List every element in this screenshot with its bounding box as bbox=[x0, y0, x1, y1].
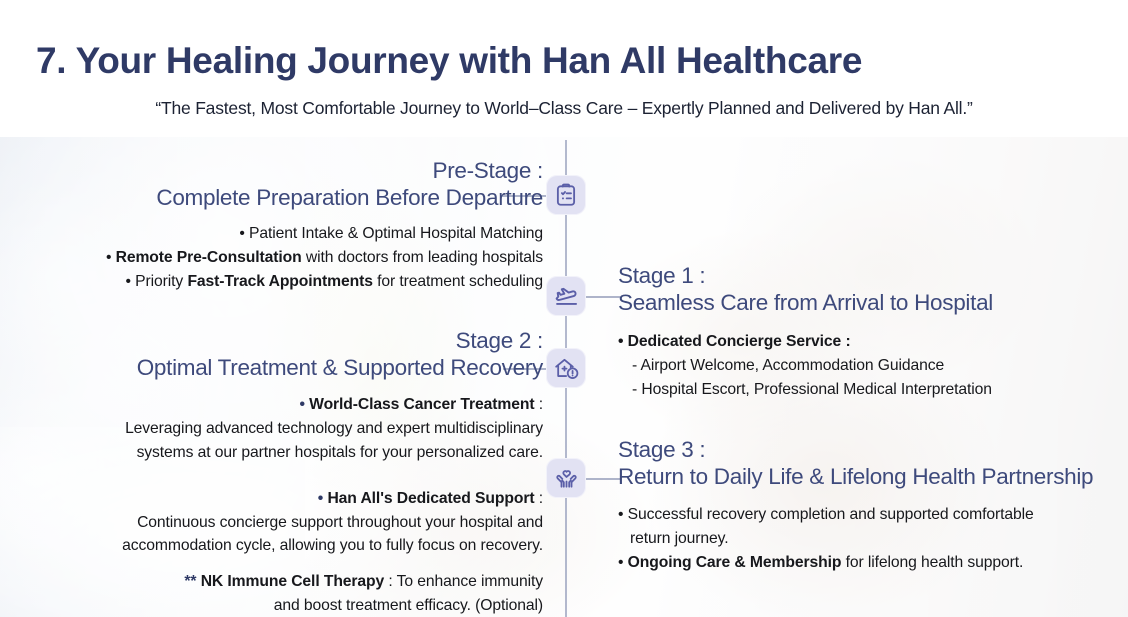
stage2-heading: Stage 2 : Optimal Treatment & Supported … bbox=[0, 328, 543, 381]
bullet-bold: World-Class Cancer Treatment bbox=[309, 396, 534, 413]
connector-stage3 bbox=[586, 478, 620, 480]
stage1-sub-2: - Hospital Escort, Professional Medical … bbox=[618, 378, 1118, 402]
prestage-headline: Complete Preparation Before Departure bbox=[0, 185, 543, 212]
prestage-bullet-3: • Priority Fast-Track Appointments for t… bbox=[0, 270, 543, 294]
stage2-bullet-2: • Han All's Dedicated Support : bbox=[0, 487, 543, 511]
bullet-rest: for lifelong health support. bbox=[841, 554, 1023, 571]
block-prestage: Pre-Stage : Complete Preparation Before … bbox=[0, 158, 543, 294]
bullet-bold: Fast-Track Appointments bbox=[187, 273, 372, 290]
note-bold: NK Immune Cell Therapy bbox=[201, 573, 384, 590]
airplane-landing-icon[interactable] bbox=[546, 276, 586, 316]
bullet-marker: • Priority bbox=[126, 273, 188, 290]
prestage-bullets: • Patient Intake & Optimal Hospital Matc… bbox=[0, 222, 543, 294]
stage2-bullets: • World-Class Cancer Treatment : Leverag… bbox=[0, 393, 543, 558]
stage3-label: Stage 3 : bbox=[618, 437, 1118, 464]
airplane-landing-glyph bbox=[553, 283, 580, 310]
note-text: ** NK Immune Cell Therapy : To enhance i… bbox=[0, 570, 543, 617]
prestage-heading: Pre-Stage : Complete Preparation Before … bbox=[0, 158, 543, 211]
stage3-bullet-1-line-1: • Successful recovery completion and sup… bbox=[618, 503, 1118, 527]
page-title: 7. Your Healing Journey with Han All Hea… bbox=[36, 40, 862, 82]
block-nk-therapy-note: ** NK Immune Cell Therapy : To enhance i… bbox=[0, 570, 543, 617]
bullet-rest: : bbox=[534, 490, 543, 507]
block-stage1: Stage 1 : Seamless Care from Arrival to … bbox=[618, 263, 1118, 402]
bullet-bold: Remote Pre-Consultation bbox=[116, 249, 302, 266]
connector-stage1 bbox=[586, 296, 620, 298]
bullet-rest: with doctors from leading hospitals bbox=[302, 249, 543, 266]
block-stage2: Stage 2 : Optimal Treatment & Supported … bbox=[0, 328, 543, 558]
stage3-headline: Return to Daily Life & Lifelong Health P… bbox=[618, 464, 1118, 491]
prestage-bullet-1: • Patient Intake & Optimal Hospital Matc… bbox=[0, 222, 543, 246]
stage1-sub-1: - Airport Welcome, Accommodation Guidanc… bbox=[618, 354, 1118, 378]
stage1-bullets: • Dedicated Concierge Service : - Airpor… bbox=[618, 330, 1118, 402]
stage2-body-2-line-1: Continuous concierge support throughout … bbox=[0, 511, 543, 535]
stage1-heading: Stage 1 : Seamless Care from Arrival to … bbox=[618, 263, 1118, 316]
stage2-bullet-1: • World-Class Cancer Treatment : bbox=[0, 393, 543, 417]
bullet-bold: Ongoing Care & Membership bbox=[628, 554, 842, 571]
clipboard-checklist-glyph bbox=[553, 182, 579, 208]
slide-root: 7. Your Healing Journey with Han All Hea… bbox=[0, 0, 1128, 617]
bullet-marker: • bbox=[106, 249, 116, 266]
stage2-body-1-line-1: Leveraging advanced technology and exper… bbox=[0, 417, 543, 441]
header-band: 7. Your Healing Journey with Han All Hea… bbox=[0, 0, 1128, 137]
stage2-headline: Optimal Treatment & Supported Recovery bbox=[0, 355, 543, 382]
hospital-info-glyph bbox=[553, 355, 580, 382]
bullet-rest: for treatment scheduling bbox=[373, 273, 543, 290]
hospital-info-icon[interactable] bbox=[546, 348, 586, 388]
spacer bbox=[0, 465, 543, 487]
stage2-body-2-line-2: accommodation cycle, allowing you to ful… bbox=[0, 534, 543, 558]
note-line-2: and boost treatment efficacy. (Optional) bbox=[0, 594, 543, 617]
bullet-marker: • bbox=[618, 554, 628, 571]
stage1-bullet-1: • Dedicated Concierge Service : bbox=[618, 330, 1118, 354]
note-rest: : To enhance immunity bbox=[384, 573, 543, 590]
bullet-marker: • bbox=[318, 490, 328, 507]
hands-holding-heart-icon[interactable] bbox=[546, 458, 586, 498]
page-subtitle: “The Fastest, Most Comfortable Journey t… bbox=[0, 98, 1128, 119]
clipboard-checklist-icon[interactable] bbox=[546, 175, 586, 215]
block-stage3: Stage 3 : Return to Daily Life & Lifelon… bbox=[618, 437, 1118, 575]
stage2-body-1-line-2: systems at our partner hospitals for you… bbox=[0, 441, 543, 465]
stage3-bullet-1-line-2: return journey. bbox=[618, 527, 1118, 551]
stage3-bullet-2: • Ongoing Care & Membership for lifelong… bbox=[618, 551, 1118, 575]
bullet-rest: : bbox=[534, 396, 543, 413]
bullet-bold: Han All's Dedicated Support bbox=[327, 490, 534, 507]
stage2-label: Stage 2 : bbox=[0, 328, 543, 355]
hands-holding-heart-glyph bbox=[553, 465, 580, 492]
stage3-heading: Stage 3 : Return to Daily Life & Lifelon… bbox=[618, 437, 1118, 490]
prestage-bullet-2: • Remote Pre-Consultation with doctors f… bbox=[0, 246, 543, 270]
note-line-1: ** NK Immune Cell Therapy : To enhance i… bbox=[0, 570, 543, 594]
bullet-marker: • bbox=[299, 396, 309, 413]
note-marker: ** bbox=[184, 573, 200, 590]
stage1-label: Stage 1 : bbox=[618, 263, 1118, 290]
prestage-label: Pre-Stage : bbox=[0, 158, 543, 185]
stage1-headline: Seamless Care from Arrival to Hospital bbox=[618, 290, 1118, 317]
stage3-bullets: • Successful recovery completion and sup… bbox=[618, 503, 1118, 575]
